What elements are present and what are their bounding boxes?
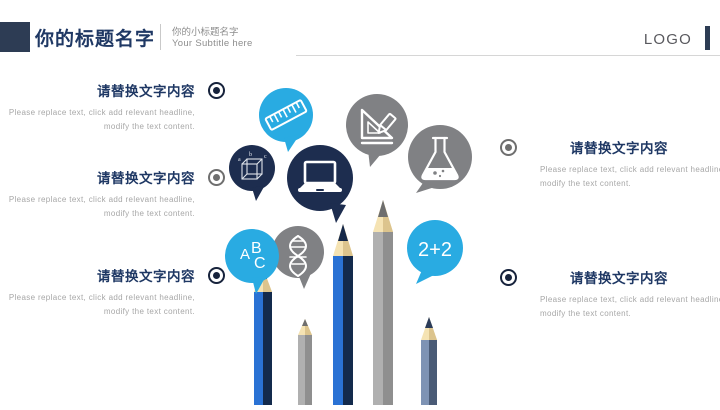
bubble-abc[interactable]: A B C xyxy=(225,229,279,294)
pencil-blue-tall xyxy=(333,224,353,405)
svg-text:b: b xyxy=(249,152,252,158)
slide-header: 你的标题名字 你的小标题名字 Your Subtitle here LOGO xyxy=(0,0,720,62)
svg-text:C: C xyxy=(254,255,266,272)
text-block-5[interactable]: 请替换文字内容 Please replace text, click add r… xyxy=(500,267,720,321)
svg-text:a: a xyxy=(238,157,241,163)
bubble-flask[interactable] xyxy=(408,125,472,193)
text-block-body: Please replace text, click add relevant … xyxy=(540,163,720,191)
header-subtitle-en: Your Subtitle here xyxy=(172,38,253,49)
pencil-gray-tall xyxy=(373,200,393,405)
bubble-math[interactable]: 2+2 xyxy=(407,220,463,284)
text-block-1[interactable]: 请替换文字内容 Please replace text, click add r… xyxy=(0,80,225,134)
bubble-set-square[interactable] xyxy=(346,94,408,167)
center-illustration: a b c xyxy=(210,60,510,405)
header-rule xyxy=(296,55,720,56)
svg-text:c: c xyxy=(264,154,267,160)
logo-text: LOGO xyxy=(644,31,692,48)
header-subtitle-cn: 你的小标题名字 xyxy=(172,24,239,38)
text-block-body: Please replace text, click add relevant … xyxy=(0,106,195,134)
header-divider xyxy=(160,24,161,50)
text-block-heading: 请替换文字内容 xyxy=(0,167,195,187)
bubble-laptop[interactable] xyxy=(287,145,353,223)
header-accent-bar xyxy=(705,26,710,50)
text-block-heading: 请替换文字内容 xyxy=(0,80,195,100)
bubble-dna[interactable] xyxy=(272,226,324,289)
math-sum-icon: 2+2 xyxy=(418,239,452,261)
text-block-body: Please replace text, click add relevant … xyxy=(540,293,720,321)
text-block-3[interactable]: 请替换文字内容 Please replace text, click add r… xyxy=(0,265,225,319)
text-block-heading: 请替换文字内容 xyxy=(540,267,720,287)
text-block-heading: 请替换文字内容 xyxy=(0,265,195,285)
abc-text-icon: A xyxy=(240,246,250,263)
text-block-2[interactable]: 请替换文字内容 Please replace text, click add r… xyxy=(0,167,225,221)
text-block-heading: 请替换文字内容 xyxy=(540,137,720,157)
bubble-ruler[interactable] xyxy=(259,88,313,152)
pencil-steel-right xyxy=(421,317,437,405)
text-block-body: Please replace text, click add relevant … xyxy=(0,193,195,221)
pencils-and-bubbles-graphic: a b c xyxy=(210,60,510,405)
header-accent-square xyxy=(0,22,30,52)
bubble-geometry-cube[interactable]: a b c xyxy=(229,145,275,201)
text-block-4[interactable]: 请替换文字内容 Please replace text, click add r… xyxy=(500,137,720,191)
page-title: 你的标题名字 xyxy=(35,24,155,51)
slide-root: 你的标题名字 你的小标题名字 Your Subtitle here LOGO 请… xyxy=(0,0,720,405)
pencil-gray-short xyxy=(298,319,312,405)
text-block-body: Please replace text, click add relevant … xyxy=(0,291,195,319)
